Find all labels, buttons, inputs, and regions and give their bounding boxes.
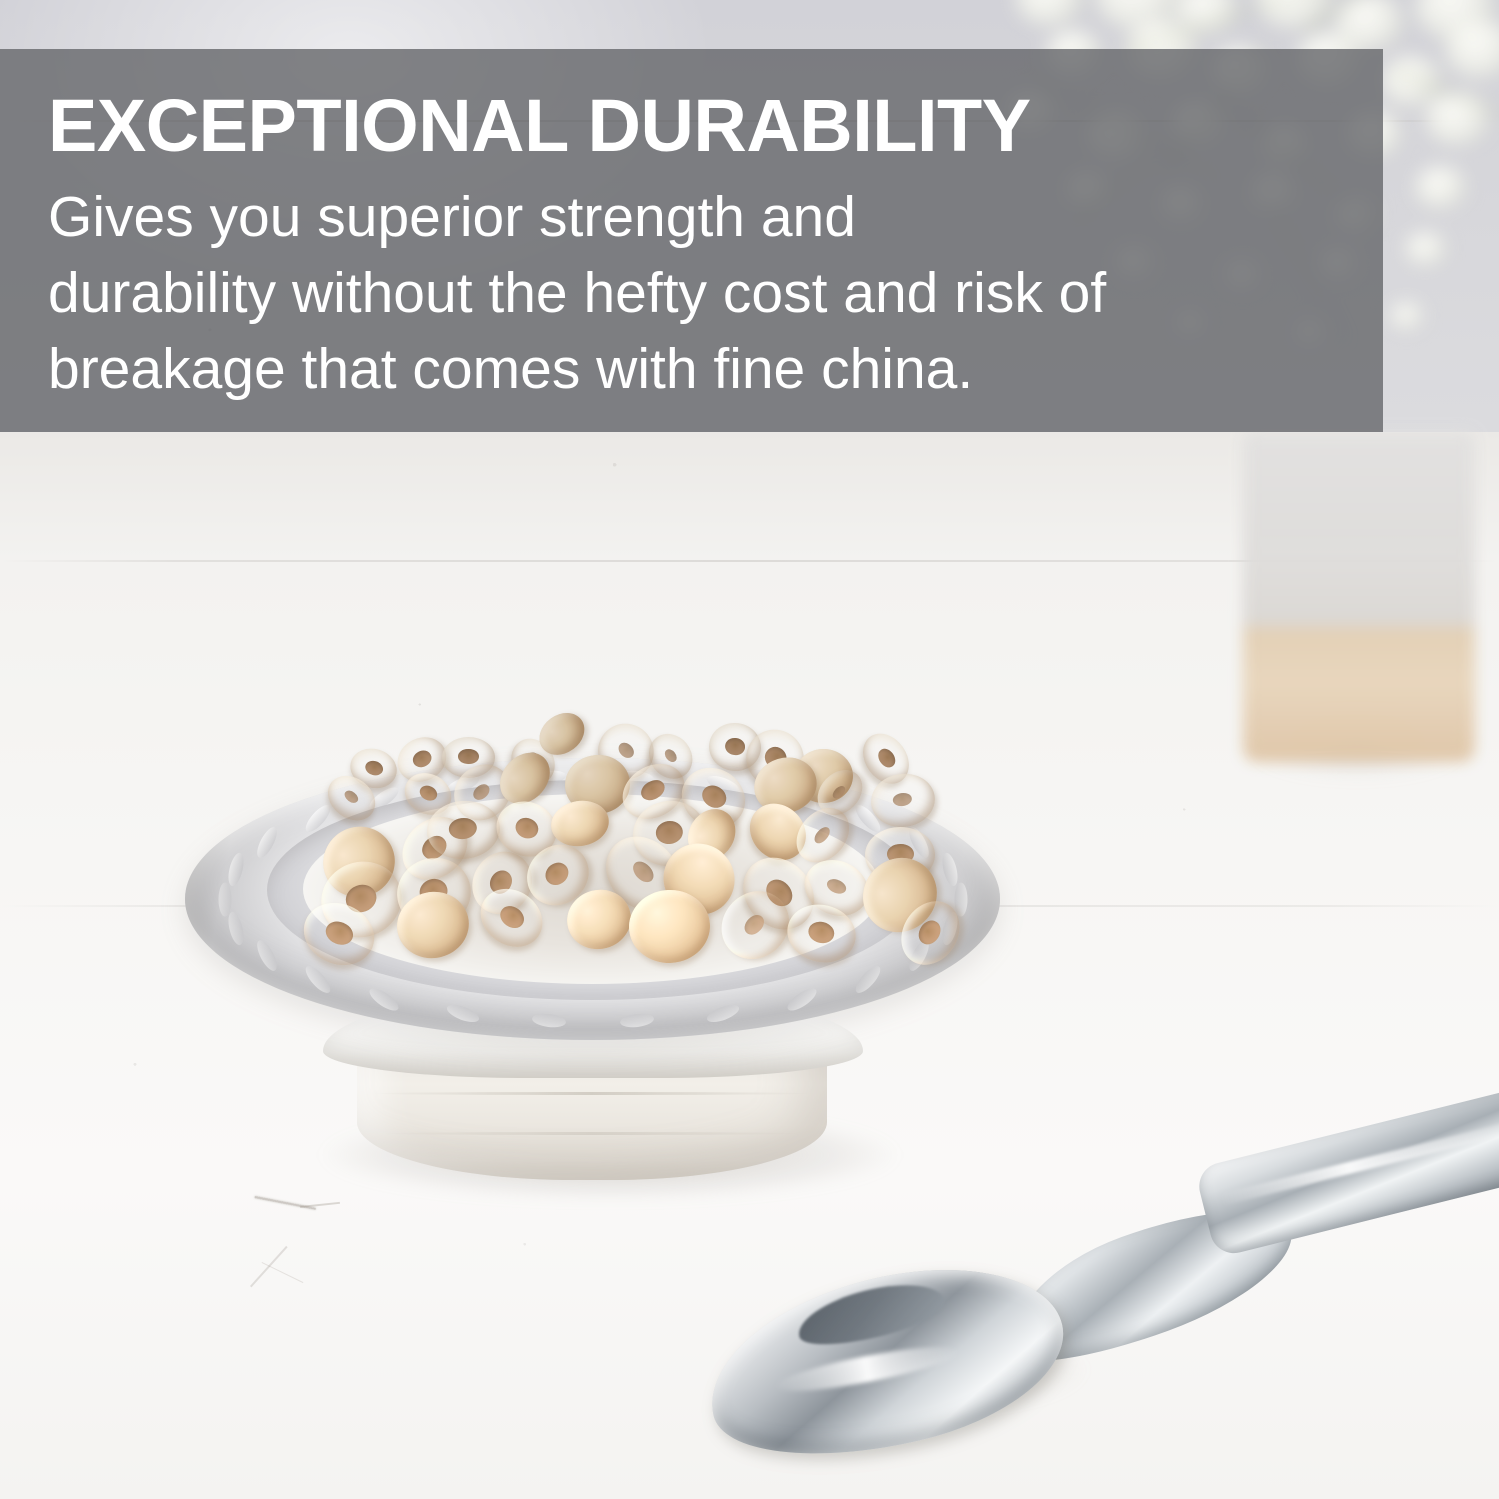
flower-cluster [1015, 0, 1085, 27]
flower-cluster [1390, 302, 1424, 330]
bowl-foot-ring [371, 1092, 813, 1095]
flower-cluster [1415, 166, 1467, 209]
flower-cluster [1425, 92, 1491, 146]
bowl-foot-ring [380, 1132, 804, 1135]
body-line-1: Gives you superior strength and [48, 179, 1335, 255]
body-copy: Gives you superior strength and durabili… [48, 179, 1335, 407]
feature-text-banner: EXCEPTIONAL DURABILITY Gives you superio… [0, 49, 1383, 432]
ceramic-vase [1243, 432, 1475, 762]
product-feature-image: EXCEPTIONAL DURABILITY Gives you superio… [0, 0, 1499, 1499]
headline: EXCEPTIONAL DURABILITY [48, 89, 1335, 163]
spoon [700, 1150, 1499, 1499]
flower-cluster [1405, 232, 1447, 266]
body-line-3: breakage that comes with fine china. [48, 331, 1335, 407]
cereal-pile [295, 720, 895, 990]
flower-cluster [1380, 56, 1442, 107]
body-line-2: durability without the hefty cost and ri… [48, 255, 1335, 331]
cereal-bowl [175, 720, 1010, 1175]
